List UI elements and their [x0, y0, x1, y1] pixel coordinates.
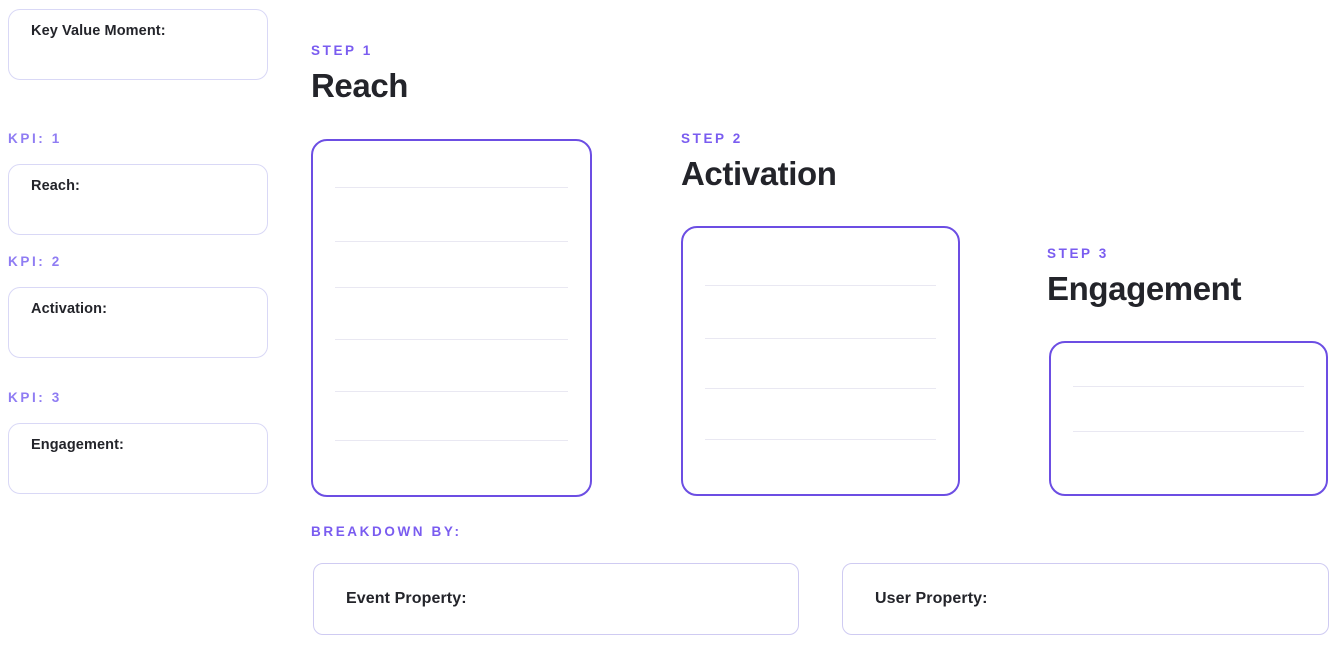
kpi-3-eyebrow: KPI: 3: [8, 390, 62, 405]
kpi-1-eyebrow: KPI: 1: [8, 131, 62, 146]
breakdown-eyebrow: BREAKDOWN BY:: [311, 524, 462, 539]
event-property-field[interactable]: Event Property:: [313, 563, 799, 635]
step-3-eyebrow: STEP 3: [1047, 246, 1109, 261]
kpi-2-label: Activation:: [31, 301, 107, 317]
kpi-3-label: Engagement:: [31, 437, 124, 453]
step-2-title: Activation: [681, 155, 837, 193]
step-3-ruled-lines: [1051, 343, 1326, 494]
kpi-1-field[interactable]: Reach:: [8, 164, 268, 235]
step-2-card[interactable]: [681, 226, 960, 496]
user-property-field[interactable]: User Property:: [842, 563, 1329, 635]
step-3-title: Engagement: [1047, 270, 1241, 308]
kpi-3-field[interactable]: Engagement:: [8, 423, 268, 494]
event-property-label: Event Property:: [346, 590, 467, 608]
key-value-moment-label: Key Value Moment:: [31, 23, 166, 39]
step-1-eyebrow: STEP 1: [311, 43, 373, 58]
step-1-title: Reach: [311, 67, 408, 105]
kpi-2-eyebrow: KPI: 2: [8, 254, 62, 269]
key-value-moment-field[interactable]: Key Value Moment:: [8, 9, 268, 80]
user-property-label: User Property:: [875, 590, 988, 608]
kpi-2-field[interactable]: Activation:: [8, 287, 268, 358]
step-1-ruled-lines: [313, 141, 590, 495]
worksheet-canvas: Key Value Moment: KPI: 1 Reach: KPI: 2 A…: [0, 0, 1337, 646]
step-2-eyebrow: STEP 2: [681, 131, 743, 146]
step-1-card[interactable]: [311, 139, 592, 497]
kpi-1-label: Reach:: [31, 178, 80, 194]
step-2-ruled-lines: [683, 228, 958, 494]
step-3-card[interactable]: [1049, 341, 1328, 496]
